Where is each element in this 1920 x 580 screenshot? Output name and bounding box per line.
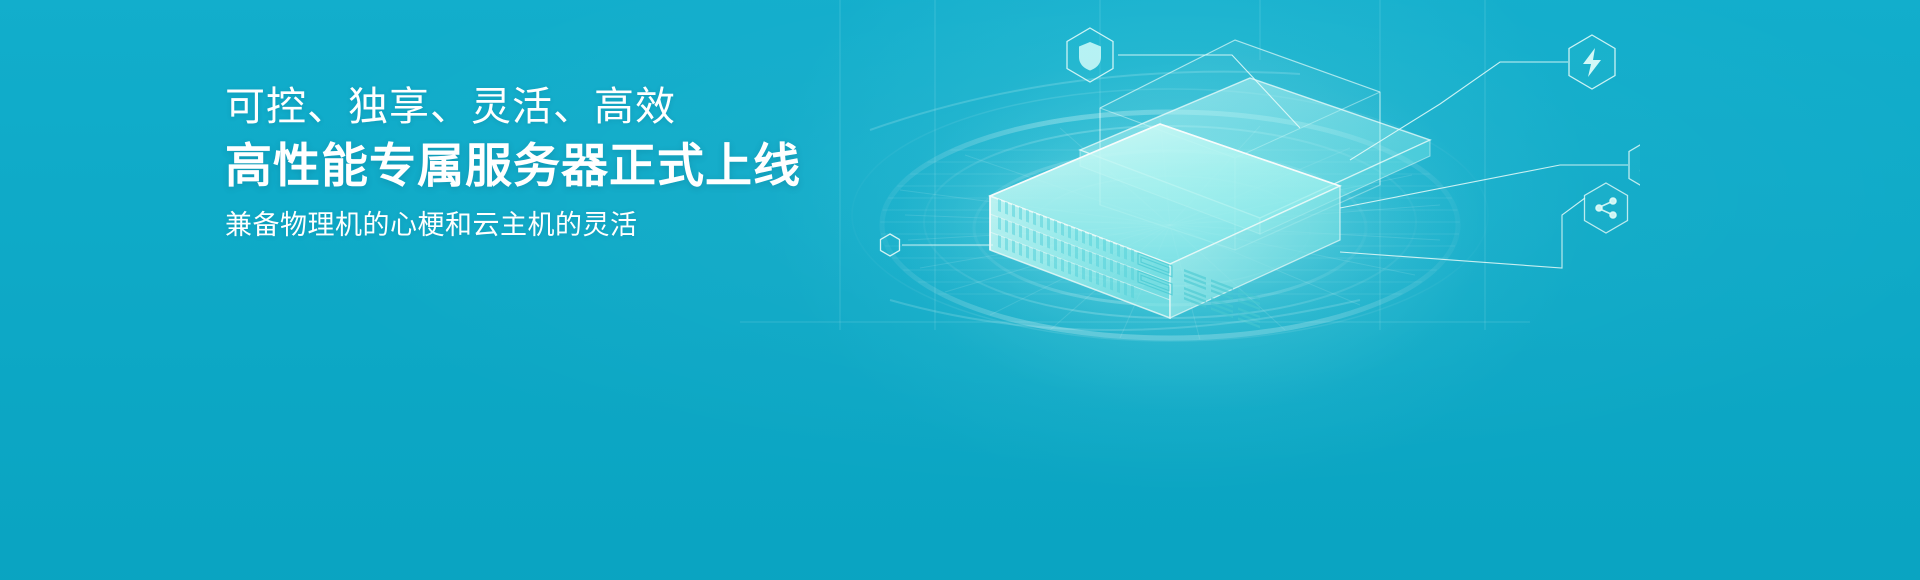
hexagon-frame	[1629, 138, 1640, 192]
badge-security	[1067, 28, 1113, 82]
badge-network	[1585, 183, 1628, 233]
server-illustration	[740, 0, 1640, 420]
headline-secondary: 高性能专属服务器正式上线	[225, 136, 865, 196]
hero-text-block: 可控、独享、灵活、高效 高性能专属服务器正式上线 兼备物理机的心梗和云主机的灵活	[225, 82, 865, 245]
headline-primary: 可控、独享、灵活、高效	[225, 82, 865, 132]
hexagon-frame	[1585, 183, 1628, 233]
badge-performance	[1629, 138, 1640, 192]
badge-power	[1569, 35, 1615, 89]
hexagon-node-icon	[881, 234, 900, 256]
hero-banner: 可控、独享、灵活、高效 高性能专属服务器正式上线 兼备物理机的心梗和云主机的灵活	[0, 0, 1920, 580]
subheadline: 兼备物理机的心梗和云主机的灵活	[225, 205, 865, 245]
badge-node	[881, 234, 900, 256]
